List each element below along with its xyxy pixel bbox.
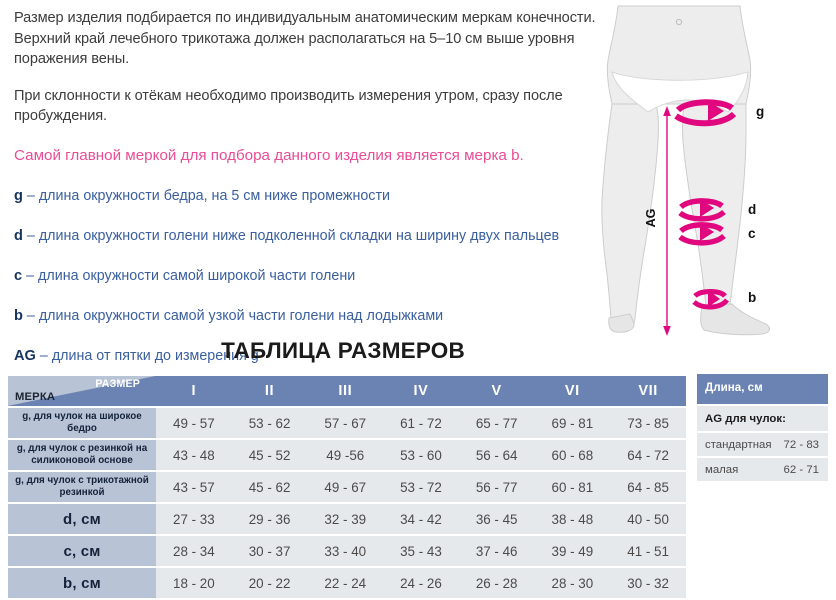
cell-r2-c3: 53 - 72 <box>383 472 459 502</box>
corner-label-razmer: РАЗМЕР <box>95 378 140 390</box>
body-silhouette-shape <box>602 6 751 332</box>
definition-dash-g: – <box>27 188 35 204</box>
definition-key-g: g <box>14 188 23 204</box>
cell-r2-c6: 64 - 85 <box>610 472 686 502</box>
column-header-7: VII <box>610 376 686 406</box>
instructions-text-column: Размер изделия подбирается по индивидуал… <box>14 8 614 386</box>
cell-r0-c0: 49 - 57 <box>156 408 232 438</box>
size-table: РАЗМЕР МЕРКА I II III IV V VI VII g, для… <box>8 374 686 600</box>
cell-r4-c5: 39 - 49 <box>535 536 611 566</box>
column-header-2: II <box>232 376 308 406</box>
definition-d: d – длина окружности голени ниже подколе… <box>14 226 614 246</box>
definition-key-c: c <box>14 268 22 284</box>
definition-c: c – длина окружности самой широкой части… <box>14 266 614 286</box>
figure-label-g: g <box>756 104 764 119</box>
definition-key-b: b <box>14 308 23 324</box>
column-header-6: VI <box>535 376 611 406</box>
figure-label-c: c <box>748 226 756 241</box>
column-header-1: I <box>156 376 232 406</box>
cell-r5-c3: 24 - 26 <box>383 568 459 598</box>
definition-text-d: длина окружности голени ниже подколенной… <box>39 228 559 244</box>
cell-r2-c1: 45 - 62 <box>232 472 308 502</box>
cell-r1-c1: 45 - 52 <box>232 440 308 470</box>
length-row-small: малая 62 - 71 <box>697 458 828 481</box>
cell-r3-c5: 38 - 48 <box>535 504 611 534</box>
cell-r0-c4: 65 - 77 <box>459 408 535 438</box>
cell-r4-c3: 35 - 43 <box>383 536 459 566</box>
table-row: g, для чулок с трикотажной резинкой 43 -… <box>8 472 686 502</box>
length-panel: Длина, см AG для чулок: стандартная 72 -… <box>697 374 828 481</box>
cell-r0-c3: 61 - 72 <box>383 408 459 438</box>
cell-r3-c3: 34 - 42 <box>383 504 459 534</box>
intro-paragraph-2: При склонности к отёкам необходимо произ… <box>14 86 614 127</box>
length-panel-subtitle-row: AG для чулок: <box>697 406 828 431</box>
length-panel-subtitle: AG для чулок: <box>705 413 786 425</box>
table-row: d, см 27 - 33 29 - 36 32 - 39 34 - 42 36… <box>8 504 686 534</box>
column-header-5: V <box>459 376 535 406</box>
cell-r5-c0: 18 - 20 <box>156 568 232 598</box>
column-header-3: III <box>307 376 383 406</box>
cell-r2-c4: 56 - 77 <box>459 472 535 502</box>
cell-r5-c2: 22 - 24 <box>307 568 383 598</box>
corner-label-merka: МЕРКА <box>15 391 55 403</box>
length-row-standard-name: стандартная <box>705 439 772 451</box>
table-row: g, для чулок с резинкой на силиконовой о… <box>8 440 686 470</box>
cell-r3-c6: 40 - 50 <box>610 504 686 534</box>
row-label-g-knit: g, для чулок с трикотажной резинкой <box>8 472 156 502</box>
cell-r0-c5: 69 - 81 <box>535 408 611 438</box>
length-row-small-value: 62 - 71 <box>784 464 819 476</box>
row-label-d: d, см <box>8 504 156 534</box>
cell-r3-c0: 27 - 33 <box>156 504 232 534</box>
cell-r2-c2: 49 - 67 <box>307 472 383 502</box>
table-row: g, для чулок на широкое бедро 49 - 57 53… <box>8 408 686 438</box>
cell-r4-c6: 41 - 51 <box>610 536 686 566</box>
length-row-standard: стандартная 72 - 83 <box>697 433 828 456</box>
definition-dash-b: – <box>27 308 35 324</box>
size-table-header-row: РАЗМЕР МЕРКА I II III IV V VI VII <box>8 376 686 406</box>
definition-b: b – длина окружности самой узкой части г… <box>14 306 614 326</box>
cell-r1-c0: 43 - 48 <box>156 440 232 470</box>
cell-r1-c2: 49 -56 <box>307 440 383 470</box>
length-panel-header: Длина, см <box>697 374 828 404</box>
row-label-g-silicone: g, для чулок с резинкой на силиконовой о… <box>8 440 156 470</box>
definition-dash-c: – <box>26 268 34 284</box>
cell-r5-c5: 28 - 30 <box>535 568 611 598</box>
definition-text-c: длина окружности самой широкой части гол… <box>38 268 355 284</box>
definition-dash-d: – <box>27 228 35 244</box>
table-row: b, см 18 - 20 20 - 22 22 - 24 24 - 26 26… <box>8 568 686 598</box>
cell-r3-c4: 36 - 45 <box>459 504 535 534</box>
table-corner-cell: РАЗМЕР МЕРКА <box>8 376 156 406</box>
cell-r4-c4: 37 - 46 <box>459 536 535 566</box>
cell-r4-c0: 28 - 34 <box>156 536 232 566</box>
cell-r5-c6: 30 - 32 <box>610 568 686 598</box>
definition-g: g – длина окружности бедра, на 5 см ниже… <box>14 186 614 206</box>
definition-text-g: длина окружности бедра, на 5 см ниже про… <box>39 188 390 204</box>
cell-r0-c6: 73 - 85 <box>610 408 686 438</box>
cell-r3-c1: 29 - 36 <box>232 504 308 534</box>
row-label-b: b, см <box>8 568 156 598</box>
cell-r4-c1: 30 - 37 <box>232 536 308 566</box>
table-row: c, см 28 - 34 30 - 37 33 - 40 35 - 43 37… <box>8 536 686 566</box>
cell-r1-c6: 64 - 72 <box>610 440 686 470</box>
figure-label-d: d <box>748 202 756 217</box>
row-label-c: c, см <box>8 536 156 566</box>
row-label-g-wide-hip: g, для чулок на широкое бедро <box>8 408 156 438</box>
length-row-standard-value: 72 - 83 <box>784 439 819 451</box>
cell-r5-c4: 26 - 28 <box>459 568 535 598</box>
cell-r4-c2: 33 - 40 <box>307 536 383 566</box>
leg-measurement-diagram: AG g d c b <box>596 0 836 348</box>
cell-r1-c3: 53 - 60 <box>383 440 459 470</box>
definition-text-b: длина окружности самой узкой части голен… <box>39 308 443 324</box>
cell-r1-c4: 56 - 64 <box>459 440 535 470</box>
ag-measurement-arrow <box>663 106 671 336</box>
cell-r2-c5: 60 - 81 <box>535 472 611 502</box>
cell-r2-c0: 43 - 57 <box>156 472 232 502</box>
size-table-title: ТАБЛИЦА РАЗМЕРОВ <box>0 338 686 364</box>
column-header-4: IV <box>383 376 459 406</box>
definition-key-d: d <box>14 228 23 244</box>
cell-r0-c2: 57 - 67 <box>307 408 383 438</box>
cell-r0-c1: 53 - 62 <box>232 408 308 438</box>
length-row-small-name: малая <box>705 464 738 476</box>
figure-label-b: b <box>748 290 756 305</box>
highlight-note: Самой главной меркой для подбора данного… <box>14 145 614 166</box>
figure-label-ag: AG <box>644 209 658 228</box>
cell-r1-c5: 60 - 68 <box>535 440 611 470</box>
intro-paragraph-1: Размер изделия подбирается по индивидуал… <box>14 8 614 70</box>
cell-r5-c1: 20 - 22 <box>232 568 308 598</box>
cell-r3-c2: 32 - 39 <box>307 504 383 534</box>
